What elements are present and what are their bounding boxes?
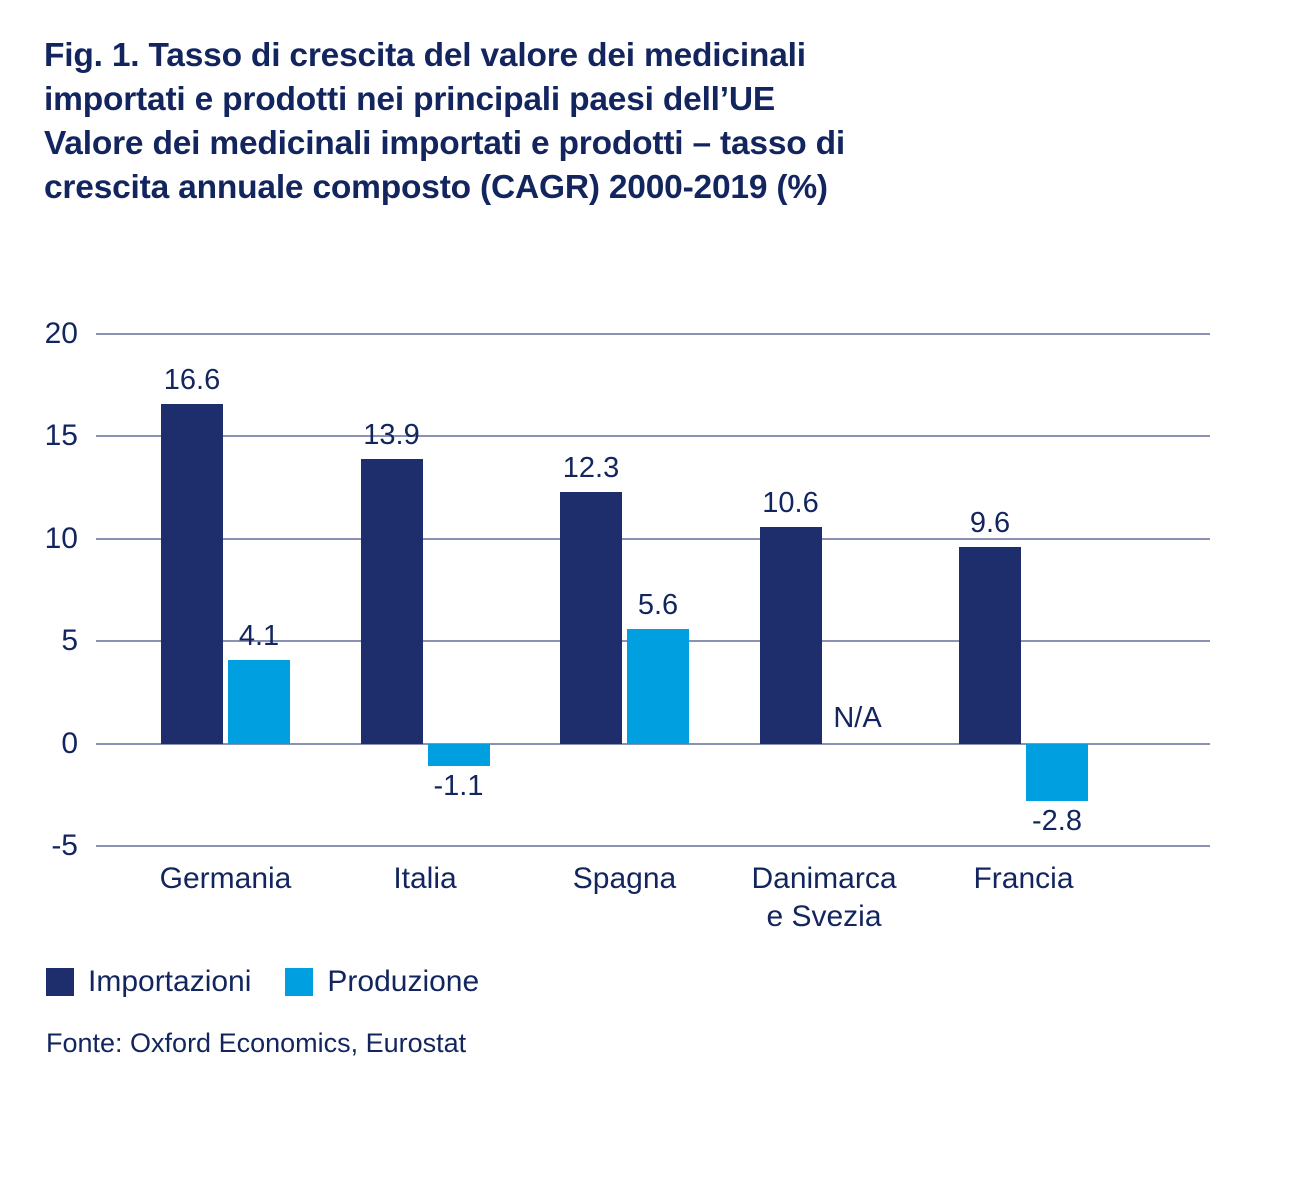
legend-label: Produzione xyxy=(327,967,479,997)
bar-value-label: -1.1 xyxy=(399,770,519,803)
legend-item[interactable]: Produzione xyxy=(285,967,479,997)
bar-value-label: 5.6 xyxy=(598,589,718,622)
bar-value-label: 12.3 xyxy=(531,452,651,485)
bar-produzione xyxy=(1026,744,1088,801)
bar-importazioni xyxy=(959,547,1021,744)
bar-chart: 20151050-516.64.1Germania13.9-1.1Italia1… xyxy=(0,0,1292,1183)
gridline xyxy=(96,333,1210,335)
y-axis-tick-label: 20 xyxy=(0,317,78,351)
y-axis-tick-label: 10 xyxy=(0,522,78,556)
bar-value-label: 4.1 xyxy=(199,620,319,653)
legend-swatch-icon xyxy=(285,968,313,996)
bar-produzione xyxy=(428,744,490,767)
bar-importazioni xyxy=(361,459,423,744)
chart-legend: ImportazioniProduzione xyxy=(46,967,479,997)
source-note: Fonte: Oxford Economics, Eurostat xyxy=(46,1028,466,1059)
bar-produzione xyxy=(228,660,290,744)
legend-label: Importazioni xyxy=(88,967,251,997)
x-axis-category-label: Francia xyxy=(894,860,1154,898)
legend-swatch-icon xyxy=(46,968,74,996)
bar-value-label: 13.9 xyxy=(332,419,452,452)
y-axis-tick-label: -5 xyxy=(0,829,78,863)
gridline xyxy=(96,435,1210,437)
x-axis-category-line: e Svezia xyxy=(694,898,954,936)
bar-produzione xyxy=(627,629,689,744)
bar-value-label: 9.6 xyxy=(930,507,1050,540)
y-axis-tick-label: 15 xyxy=(0,419,78,453)
legend-item[interactable]: Importazioni xyxy=(46,967,251,997)
bar-importazioni xyxy=(161,404,223,744)
x-axis-category-line: Francia xyxy=(894,860,1154,898)
gridline xyxy=(96,845,1210,847)
bar-value-label-na: N/A xyxy=(798,702,918,735)
y-axis-tick-label: 0 xyxy=(0,727,78,761)
y-axis-tick-label: 5 xyxy=(0,624,78,658)
bar-value-label: 16.6 xyxy=(132,364,252,397)
bar-value-label: 10.6 xyxy=(731,487,851,520)
bar-value-label: -2.8 xyxy=(997,805,1117,838)
